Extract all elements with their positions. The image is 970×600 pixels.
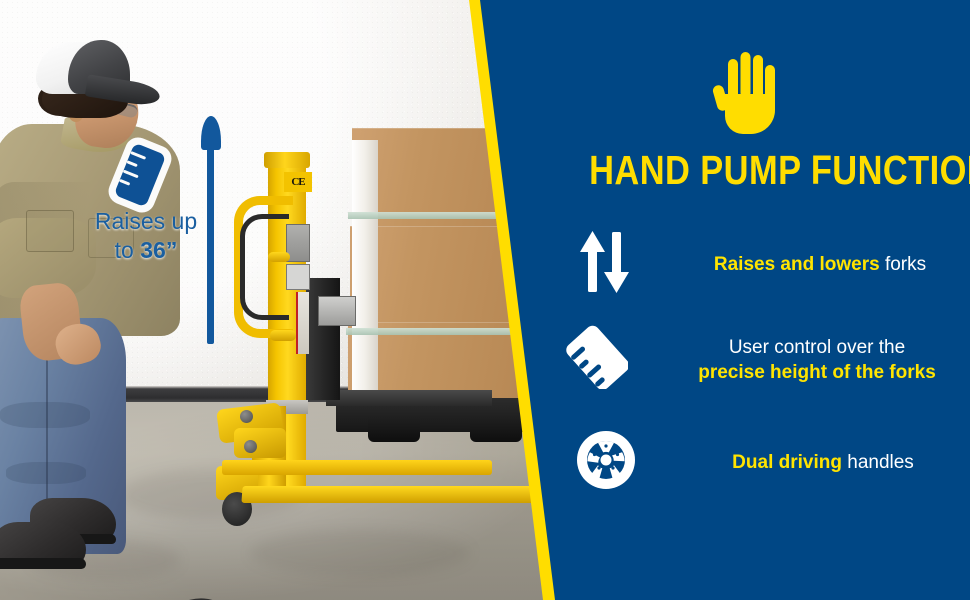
steer-handle-inner [240,214,289,320]
feature-text: User control over the precise height of … [664,335,970,385]
base-leg [241,486,542,503]
worker-boot-sole [0,558,86,569]
handle-knob [270,330,296,341]
handle-knob [268,252,290,262]
callout-line-2-prefix: to [115,237,141,263]
feature-row-precise-height: User control over the precise height of … [566,325,970,394]
hand-pump-joint [234,428,286,458]
worker-jeans-fold [6,462,86,484]
pump-pivot-pin [240,410,253,423]
ce-label: CE [284,172,312,192]
product-photo-panel: CE Raises up to 36” [0,0,560,600]
feature-row-dual-handles: Dual driving handles [576,430,970,495]
pallet-foot [470,414,522,442]
pallet-foot [368,414,420,442]
hand-icon [712,52,784,134]
worker-jeans-fold [0,402,90,428]
ruler-icon [566,325,628,394]
raise-height-callout: Raises up to 36” [82,207,210,265]
callout-line-1: Raises up [95,208,197,234]
fork-tine [326,390,492,406]
feature-text-normal: handles [842,452,914,473]
up-arrow-shaft [207,142,214,344]
floor-stain [250,530,470,576]
up-down-arrows-icon [576,230,634,299]
worker-shirt-pocket [26,210,74,252]
feature-row-raises-lowers: Raises and lowers forks [576,230,970,299]
callout-line-2-value: 36” [140,237,177,263]
wheel-icon [576,430,636,495]
feature-text-normal: User control over the [729,337,905,358]
feature-content: HAND PUMP FUNCTION Raises and lowers for… [556,0,970,600]
feature-text-normal: forks [880,254,926,275]
feature-text-bold: Raises and lowers [714,254,880,275]
feature-text: Raises and lowers forks [670,252,970,277]
box-edge-protector [352,140,378,410]
mast-cap [264,152,310,168]
feature-text: Dual driving handles [676,450,970,475]
up-arrow-icon [199,116,223,344]
pump-pivot-pin [244,440,257,453]
feature-text-bold: precise height of the forks [698,362,936,383]
carriage-plate [318,296,356,326]
marketing-banner: CE Raises up to 36” [0,0,970,600]
base-leg [222,460,492,475]
feature-text-bold: Dual driving [732,452,842,473]
mast-warning-label [296,292,309,354]
page-title: HAND PUMP FUNCTION [589,147,937,194]
